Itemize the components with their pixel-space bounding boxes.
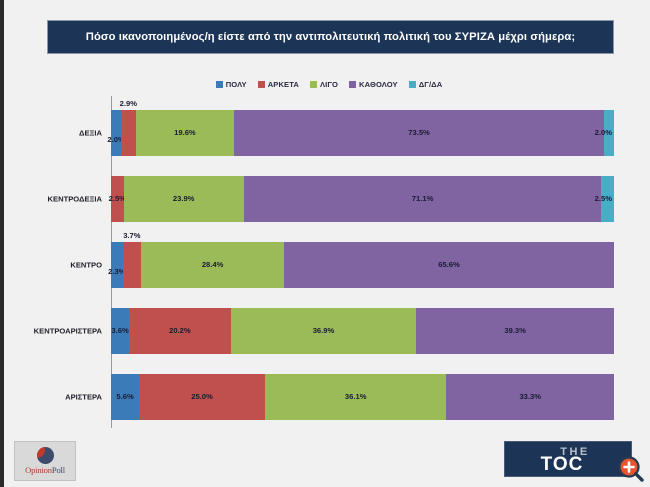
category-label: ΔΕΞΙΑ xyxy=(79,129,102,138)
legend-item[interactable]: ΛΙΓΟ xyxy=(310,80,338,89)
bar-value-label: 73.5% xyxy=(408,129,430,137)
opinionpoll-wordmark: OpinionPoll xyxy=(25,465,65,475)
legend-item[interactable]: ΔΓ/ΔΑ xyxy=(409,80,443,89)
thetoc-word-toc: TOC xyxy=(541,454,584,476)
bar-segment[interactable]: 2.3% xyxy=(111,242,123,288)
category-label: ΑΡΙΣΤΕΡΑ xyxy=(65,393,102,402)
bar-value-label: 23.9% xyxy=(173,195,195,203)
bar-value-label: 36.9% xyxy=(313,327,335,335)
bar-segment[interactable]: 28.4% xyxy=(141,242,284,288)
bar-value-label: 25.0% xyxy=(191,393,213,401)
category-label: ΚΕΝΤΡΟ xyxy=(70,261,102,270)
thetoc-logo: THE TOC xyxy=(504,441,632,477)
bar-segment[interactable]: 65.6% xyxy=(284,242,614,288)
chart-row: ΔΕΞΙΑ2.0%2.9%19.6%73.5%2.0% xyxy=(4,110,650,156)
page-title: Πόσο ικανοποιημένος/η είστε από την αντι… xyxy=(86,31,575,43)
legend-label: ΑΡΚΕΤΑ xyxy=(268,80,299,89)
stacked-bar: 2.0%2.9%19.6%73.5%2.0% xyxy=(111,110,614,156)
category-label: ΚΕΝΤΡΟΔΕΞΙΑ xyxy=(48,195,102,204)
bar-value-label: 33.3% xyxy=(519,393,541,401)
chart-row: ΑΡΙΣΤΕΡΑ5.6%25.0%36.1%33.3% xyxy=(4,374,650,420)
bar-segment[interactable]: 2.9% xyxy=(121,110,136,156)
legend-item[interactable]: ΑΡΚΕΤΑ xyxy=(258,80,299,89)
bar-value-label: 19.6% xyxy=(174,129,196,137)
opinionpoll-logo: OpinionPoll xyxy=(14,441,76,481)
bar-value-label: 3.6% xyxy=(111,327,128,335)
bar-value-label: 36.1% xyxy=(345,393,367,401)
bar-segment[interactable]: 19.6% xyxy=(136,110,235,156)
legend-swatch-icon xyxy=(310,81,317,88)
legend-swatch-icon xyxy=(258,81,265,88)
bar-segment[interactable]: 71.1% xyxy=(244,176,602,222)
opinionpoll-circle-icon xyxy=(37,447,54,464)
legend-label: ΚΑΘΟΛΟΥ xyxy=(359,80,398,89)
bar-segment[interactable]: 39.3% xyxy=(416,308,614,354)
stacked-bar: 2.5%23.9%71.1%2.5% xyxy=(111,176,614,222)
chart-row: ΚΕΝΤΡΟΑΡΙΣΤΕΡΑ3.6%20.2%36.9%39.3% xyxy=(4,308,650,354)
bar-segment[interactable]: 36.1% xyxy=(265,374,447,420)
bar-segment[interactable]: 25.0% xyxy=(139,374,265,420)
bar-value-label: 28.4% xyxy=(202,261,224,269)
category-label: ΚΕΝΤΡΟΑΡΙΣΤΕΡΑ xyxy=(34,327,102,336)
bar-segment[interactable]: 2.5% xyxy=(601,176,614,222)
legend-item[interactable]: ΠΟΛΥ xyxy=(216,80,247,89)
chart-row: ΚΕΝΤΡΟΔΕΞΙΑ2.5%23.9%71.1%2.5% xyxy=(4,176,650,222)
opinionpoll-word-poll: Poll xyxy=(52,465,65,475)
bar-value-label: 39.3% xyxy=(504,327,526,335)
bar-value-label: 65.6% xyxy=(438,261,460,269)
chart-title-banner: Πόσο ικανοποιημένος/η είστε από την αντι… xyxy=(47,20,614,54)
legend-swatch-icon xyxy=(349,81,356,88)
chart-page: Πόσο ικανοποιημένος/η είστε από την αντι… xyxy=(0,0,650,487)
legend-label: ΔΓ/ΔΑ xyxy=(419,80,443,89)
bar-segment[interactable]: 2.0% xyxy=(604,110,614,156)
bar-value-label: 2.0% xyxy=(595,129,612,137)
stacked-bar: 2.3%3.7%28.4%65.6% xyxy=(111,242,614,288)
legend-swatch-icon xyxy=(409,81,416,88)
bar-segment[interactable]: 20.2% xyxy=(129,308,231,354)
bar-segment[interactable]: 73.5% xyxy=(234,110,604,156)
bar-value-label: 20.2% xyxy=(169,327,191,335)
legend-item[interactable]: ΚΑΘΟΛΟΥ xyxy=(349,80,398,89)
chart-plot-area: ΔΕΞΙΑ2.0%2.9%19.6%73.5%2.0%ΚΕΝΤΡΟΔΕΞΙΑ2.… xyxy=(4,96,650,428)
zoom-in-icon[interactable] xyxy=(618,456,644,482)
bar-value-label: 3.7% xyxy=(123,232,140,240)
opinionpoll-word-opinion: Opinion xyxy=(25,465,52,475)
chart-row: ΚΕΝΤΡΟ2.3%3.7%28.4%65.6% xyxy=(4,242,650,288)
bar-value-label: 2.9% xyxy=(120,100,137,108)
bar-segment[interactable]: 3.6% xyxy=(111,308,129,354)
bar-segment[interactable]: 5.6% xyxy=(111,374,139,420)
bar-value-label: 2.5% xyxy=(595,195,612,203)
bar-segment[interactable]: 2.0% xyxy=(111,110,121,156)
legend-label: ΠΟΛΥ xyxy=(226,80,247,89)
bar-segment[interactable]: 33.3% xyxy=(446,374,613,420)
bar-segment[interactable]: 2.5% xyxy=(111,176,124,222)
legend-swatch-icon xyxy=(216,81,223,88)
bar-value-label: 5.6% xyxy=(116,393,133,401)
stacked-bar: 3.6%20.2%36.9%39.3% xyxy=(111,308,614,354)
stacked-bar: 5.6%25.0%36.1%33.3% xyxy=(111,374,614,420)
bar-value-label: 71.1% xyxy=(412,195,434,203)
bar-segment[interactable]: 3.7% xyxy=(123,242,142,288)
bar-segment[interactable]: 23.9% xyxy=(124,176,244,222)
legend-label: ΛΙΓΟ xyxy=(320,80,338,89)
chart-legend: ΠΟΛΥΑΡΚΕΤΑΛΙΓΟΚΑΘΟΛΟΥΔΓ/ΔΑ xyxy=(4,80,650,89)
bar-segment[interactable]: 36.9% xyxy=(231,308,417,354)
